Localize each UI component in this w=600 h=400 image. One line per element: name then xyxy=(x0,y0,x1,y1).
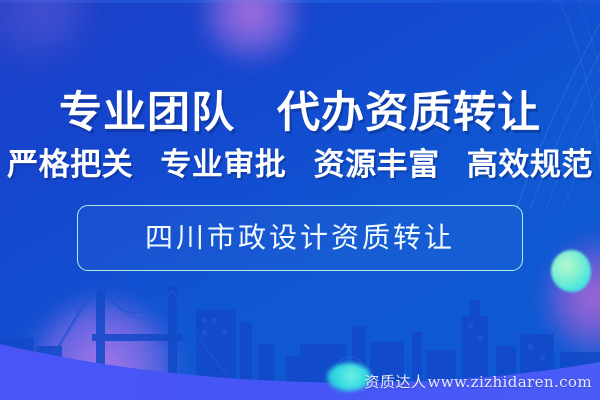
subheadline: 严格把关 专业审批 资源丰富 高效规范 xyxy=(7,147,593,183)
promo-banner: 专业团队 代办资质转让 严格把关 专业审批 资源丰富 高效规范 四川市政设计资质… xyxy=(0,0,600,400)
subhead-part2: 专业审批 xyxy=(160,147,286,182)
subhead-part4: 高效规范 xyxy=(467,147,593,182)
subhead-part1: 严格把关 xyxy=(7,147,133,182)
banner-content: 专业团队 代办资质转让 严格把关 专业审批 资源丰富 高效规范 四川市政设计资质… xyxy=(0,0,600,400)
watermark-brand: 资质达人 xyxy=(365,371,427,392)
watermark-url: www.zizhidaren.com xyxy=(428,373,592,391)
cta-box[interactable]: 四川市政设计资质转让 xyxy=(77,205,523,271)
subhead-part3: 资源丰富 xyxy=(314,147,440,182)
watermark: 资质达人 www.zizhidaren.com xyxy=(365,371,592,392)
headline: 专业团队 代办资质转让 xyxy=(59,88,541,138)
headline-part1: 专业团队 xyxy=(59,89,235,137)
headline-part2: 代办资质转让 xyxy=(277,89,541,137)
cta-text: 四川市政设计资质转让 xyxy=(145,222,455,254)
